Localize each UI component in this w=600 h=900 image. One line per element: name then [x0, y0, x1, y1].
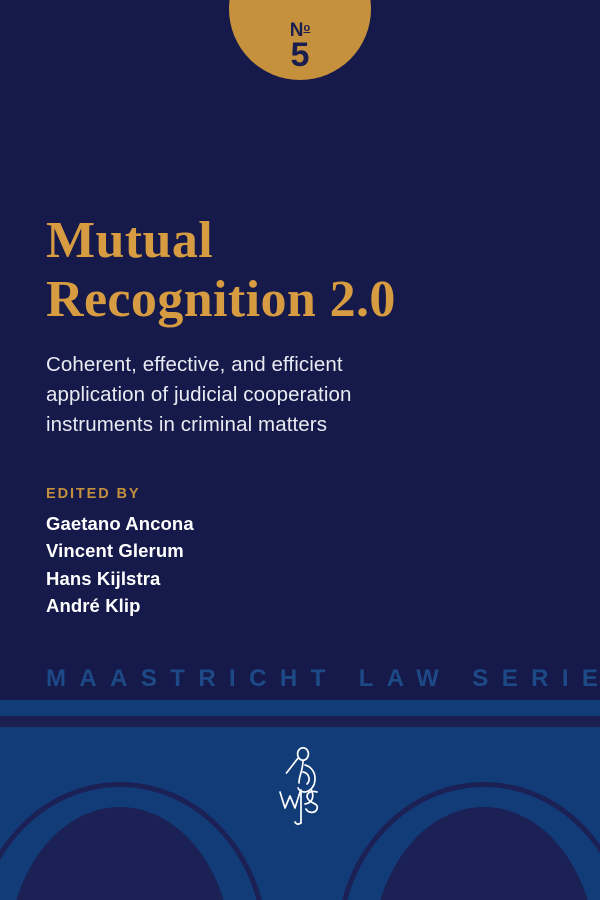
medallion-number-value: 5 [291, 38, 310, 74]
editor-name: Hans Kijlstra [46, 565, 194, 592]
book-subtitle-line-1: Coherent, effective, and efficient [46, 350, 446, 380]
stork-monogram-logo [272, 745, 332, 831]
editor-name: André Klip [46, 592, 194, 619]
editor-name: Vincent Glerum [46, 537, 194, 564]
band-divider-stripe [0, 716, 600, 727]
editors-block: EDITED BY Gaetano Ancona Vincent Glerum … [46, 486, 194, 620]
series-name: MAASTRICHT LAW SERIES [46, 665, 566, 693]
bottom-band [0, 727, 600, 900]
editor-name: Gaetano Ancona [46, 510, 194, 537]
book-title: Mutual Recognition 2.0 [46, 212, 516, 330]
medallion-ordinal-suffix: o [304, 22, 311, 34]
edited-by-label: EDITED BY [46, 486, 194, 502]
band-upper-stripe [0, 700, 600, 716]
book-subtitle-line-3: instruments in criminal matters [46, 410, 446, 440]
book-title-line-1: Mutual [46, 212, 516, 271]
book-subtitle-line-2: application of judicial cooperation [46, 380, 446, 410]
book-cover: No 5 Mutual Recognition 2.0 Coherent, ef… [0, 0, 600, 900]
book-title-line-2: Recognition 2.0 [46, 271, 516, 330]
book-subtitle: Coherent, effective, and efficient appli… [46, 350, 446, 440]
